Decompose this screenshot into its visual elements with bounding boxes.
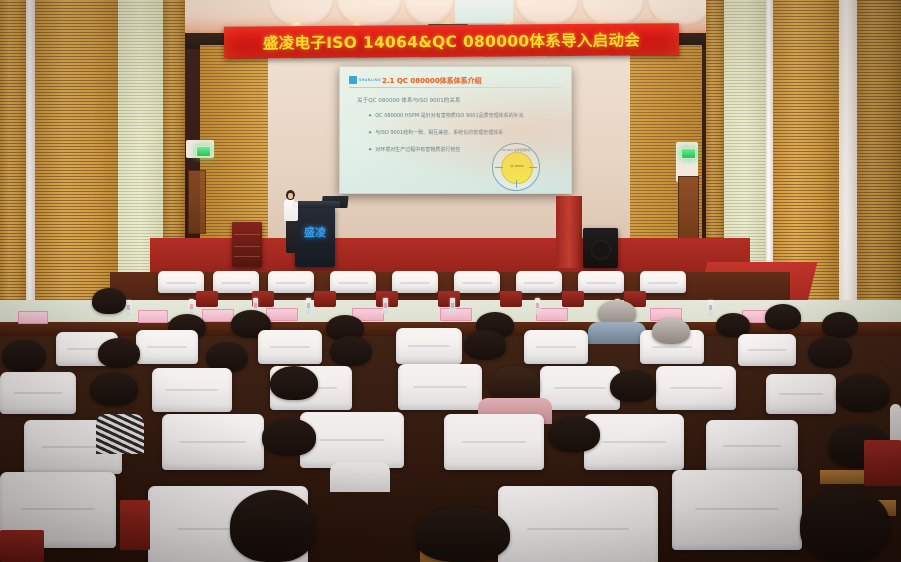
audience-head (464, 330, 506, 360)
water-bottle (708, 300, 713, 316)
venn-inner-circle: QC 080000 (501, 152, 533, 184)
audience-chair[interactable] (656, 366, 736, 410)
name-card (536, 308, 568, 321)
audience-chair[interactable] (136, 330, 198, 364)
audience-chair[interactable] (152, 368, 232, 412)
water-bottle (189, 299, 194, 315)
seat-cushion (196, 291, 218, 307)
conference-photo: 盛凌电子ISO 14064&QC 080000体系导入启动会 SHANLING … (0, 0, 901, 562)
slide-bullet-text: QC 080000 HSPM 是针对有害物质ISO 9001品质管理体系的补充 (375, 113, 523, 119)
water-bottle (126, 300, 131, 316)
audience-shoulders (890, 404, 901, 444)
audience-head (488, 366, 540, 402)
side-door-left[interactable] (188, 170, 206, 234)
audience-head (270, 366, 318, 400)
audience-head (548, 416, 600, 452)
bullet-marker-icon: ✦ (368, 113, 372, 119)
projected-slide: SHANLING 2.1 QC 080000体系体系介绍 关于QC 080000… (340, 67, 571, 193)
slide-title: 2.1 QC 080000体系体系介绍 (382, 76, 482, 86)
name-card (440, 308, 472, 321)
audience-shoulders (588, 322, 646, 344)
name-card (202, 309, 234, 322)
audience-chair[interactable] (706, 420, 798, 472)
audience-chair-foreground[interactable] (498, 486, 658, 562)
slide-bullet-text: 与ISO 9001结构一致、相互兼容、系统化的管理管理体系 (375, 130, 503, 136)
seat-cushion (0, 530, 44, 562)
slide-venn-diagram: ISO 9001 品质管理体系 QC 080000 (492, 143, 540, 191)
stage-cabinet-left (232, 222, 262, 267)
seat-cushion (500, 291, 522, 307)
presenter-face (288, 193, 293, 199)
audience-chair[interactable] (524, 330, 588, 364)
banner-text: 盛凌电子ISO 14064&QC 080000体系导入启动会 (263, 29, 640, 54)
audience-head (2, 340, 46, 372)
audience-head (330, 336, 372, 366)
audience-head (836, 374, 890, 412)
audience-chair[interactable] (584, 414, 684, 470)
venn-inner-label: QC 080000 (510, 165, 523, 168)
bullet-marker-icon: ✦ (368, 130, 372, 136)
name-card (18, 311, 48, 324)
speaker-driver-icon (591, 240, 611, 260)
ceiling-skylight (455, 0, 513, 23)
audience-chair-foreground[interactable] (672, 470, 802, 550)
table-row-chair[interactable] (268, 271, 314, 293)
logo-mark-icon (349, 76, 357, 84)
audience-chair[interactable] (396, 328, 462, 364)
wood-wall-left (35, 0, 118, 330)
table-row-chair[interactable] (516, 271, 562, 293)
slide-logo-text: SHANLING (359, 78, 381, 82)
wall-pilaster (26, 0, 35, 300)
wall-pilaster (839, 0, 857, 322)
audience-head (98, 338, 140, 368)
podium-logo-text: 盛凌 (295, 227, 335, 239)
audience-chair[interactable] (766, 374, 836, 414)
audience-head-foreground (414, 506, 510, 562)
table-row-chair[interactable] (454, 271, 500, 293)
side-door-right[interactable] (678, 176, 699, 242)
wood-wall-left (0, 0, 26, 330)
table-row-chair[interactable] (213, 271, 259, 293)
name-card (266, 308, 298, 321)
audience-chair[interactable] (738, 334, 796, 366)
audience-head (92, 288, 126, 314)
slide-divider (349, 87, 563, 88)
audience-head (90, 372, 138, 406)
audience-chair[interactable] (258, 330, 322, 364)
presenter-legs (286, 220, 296, 253)
audience-chair[interactable] (398, 364, 482, 410)
event-banner: 盛凌电子ISO 14064&QC 080000体系导入启动会 (224, 23, 679, 59)
table-row-chair[interactable] (158, 271, 204, 293)
water-bottle (535, 298, 540, 314)
slide-bullet: ✦QC 080000 HSPM 是针对有害物质ISO 9001品质管理体系的补充 (368, 112, 524, 119)
seat-cushion (562, 291, 584, 307)
projection-screen: SHANLING 2.1 QC 080000体系体系介绍 关于QC 080000… (339, 66, 572, 194)
seat-cushion (438, 291, 460, 307)
water-bottle (383, 298, 388, 314)
slide-bullet-text: 对环境对生产过程中有害物质进行管控 (375, 147, 460, 153)
exit-sign-left-icon (196, 146, 211, 157)
water-bottle (450, 298, 455, 314)
slide-bullet: ✦对环境对生产过程中有害物质进行管控 (368, 146, 460, 153)
audience-head (262, 418, 316, 456)
slide-lead-text: 关于QC 080000 体系与ISO 9001的关系 (357, 96, 461, 104)
microphone-icon (294, 196, 297, 202)
audience-chair[interactable] (444, 414, 544, 470)
audience-chair[interactable] (540, 366, 620, 410)
bullet-marker-icon: ✦ (368, 147, 372, 153)
water-bottle (306, 298, 311, 314)
wood-wall-right (857, 0, 901, 322)
seat-cushion (314, 291, 336, 307)
podium: 盛凌 (295, 205, 335, 267)
table-row-chair[interactable] (330, 271, 376, 293)
audience-head (610, 370, 656, 402)
audience-head-foreground (800, 488, 890, 562)
seat-cushion (864, 440, 901, 486)
audience-shoulders (96, 414, 144, 454)
audience-head-foreground (230, 490, 316, 562)
table-row-chair[interactable] (640, 271, 686, 293)
audience-head (652, 318, 690, 344)
stage-loudspeaker-right (583, 228, 618, 268)
name-card (138, 310, 168, 323)
audience-head (822, 312, 858, 338)
audience-shoulders (330, 462, 390, 492)
stage-curtain (556, 196, 582, 268)
seat-cushion (120, 500, 150, 550)
table-row-chair[interactable] (392, 271, 438, 293)
audience-chair[interactable] (0, 372, 76, 414)
audience-head (808, 336, 852, 368)
exit-sign-right-icon (681, 148, 696, 159)
slide-bullet: ✦与ISO 9001结构一致、相互兼容、系统化的管理管理体系 (368, 129, 503, 136)
slide-company-logo: SHANLING (349, 76, 381, 84)
table-row-chair[interactable] (578, 271, 624, 293)
presenter (283, 190, 299, 256)
audience-head (765, 304, 801, 330)
audience-chair[interactable] (162, 414, 264, 470)
